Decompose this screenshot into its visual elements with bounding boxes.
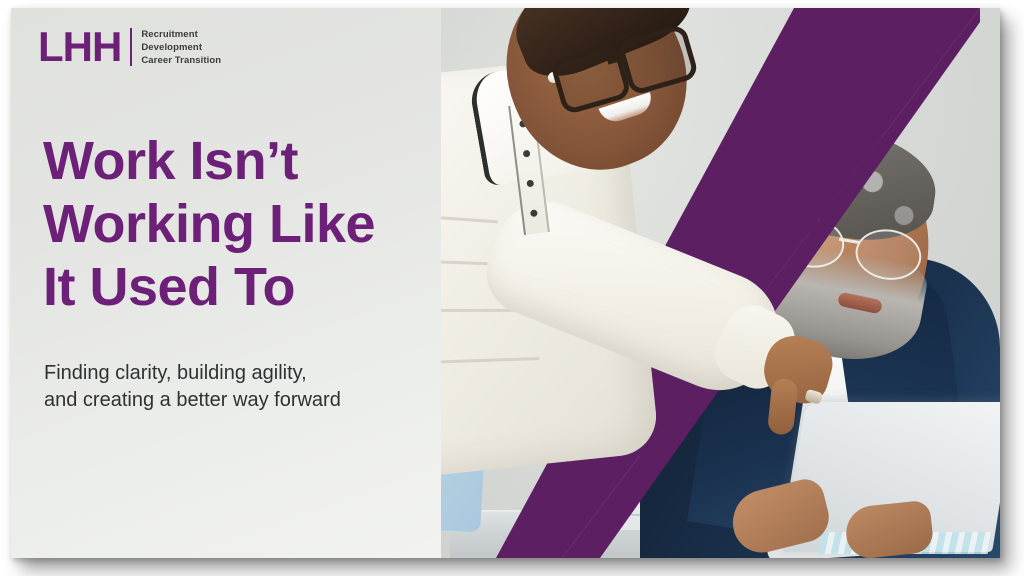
- headline-line-2: Working Like: [43, 193, 463, 256]
- subhead-line-1: Finding clarity, building agility,: [44, 360, 444, 387]
- logo-tagline-3: Career Transition: [141, 55, 221, 66]
- jacket-button: [530, 209, 538, 217]
- slide-canvas: LHH Recruitment Development Career Trans…: [0, 0, 1024, 576]
- lhh-logo: LHH Recruitment Development Career Trans…: [38, 27, 221, 67]
- logo-tagline-block: Recruitment Development Career Transitio…: [141, 29, 221, 66]
- jacket-button: [523, 150, 531, 158]
- page-title: Work Isn’t Working Like It Used To: [43, 130, 463, 319]
- logo-tagline-2: Development: [141, 42, 221, 53]
- logo-divider-rule: [130, 28, 132, 66]
- logo-tagline-1: Recruitment: [141, 29, 221, 40]
- page-subtitle: Finding clarity, building agility, and c…: [44, 360, 444, 414]
- subhead-line-2: and creating a better way forward: [44, 387, 444, 414]
- presentation-slide-card: LHH Recruitment Development Career Trans…: [11, 8, 1000, 558]
- lhh-wordmark: LHH: [38, 27, 121, 67]
- headline-line-3: It Used To: [43, 256, 463, 319]
- jacket-button: [526, 180, 534, 188]
- pointing-finger: [767, 377, 799, 435]
- headline-line-1: Work Isn’t: [43, 130, 463, 193]
